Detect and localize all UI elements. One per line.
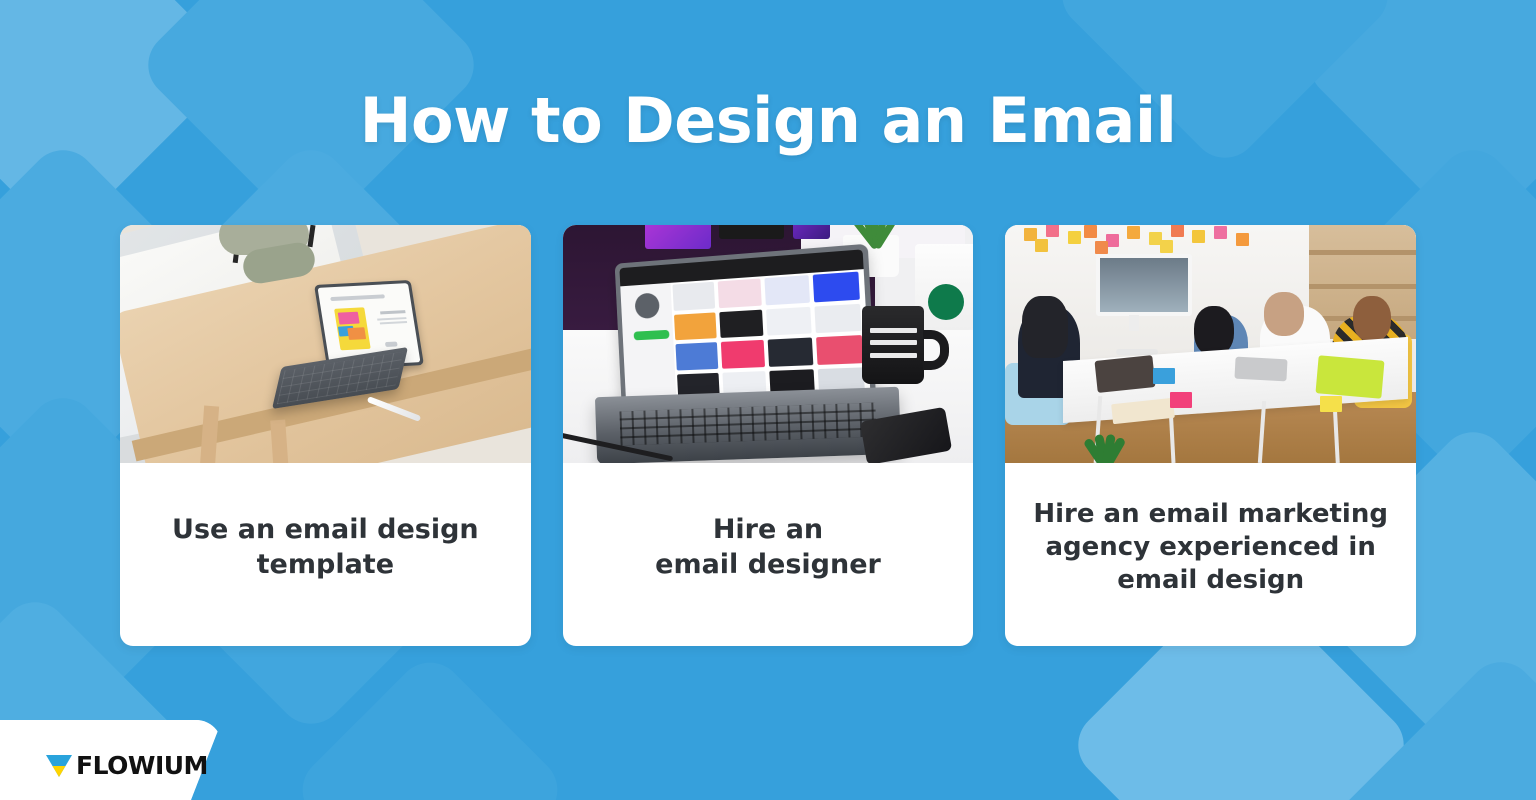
coffee-cup-icon (915, 244, 973, 330)
card-email-designer[interactable]: Hire an email designer (563, 225, 974, 646)
laptop-icon (1235, 357, 1288, 382)
card-caption: Hire an email marketing agency experienc… (1005, 463, 1416, 646)
infographic-root: How to Design an Email (0, 0, 1536, 800)
page-title: How to Design an Email (0, 88, 1536, 153)
card-caption: Use an email design template (120, 463, 531, 646)
laptop-icon (1094, 355, 1155, 393)
pattern-tile (289, 649, 572, 800)
flowium-wordmark: FLOWIUM (76, 753, 208, 778)
email-marketing-agency-photo (1005, 225, 1416, 463)
pattern-tile (1324, 648, 1536, 800)
email-design-template-photo (120, 225, 531, 463)
laptop-icon (1316, 355, 1385, 399)
card-email-marketing-agency[interactable]: Hire an email marketing agency experienc… (1005, 225, 1416, 646)
mug-icon (862, 306, 924, 384)
laptop-icon (615, 243, 876, 409)
card-email-design-template[interactable]: Use an email design template (120, 225, 531, 646)
flowium-triangle-icon (46, 755, 72, 777)
monitor-icon (1096, 254, 1192, 316)
plant-icon (1071, 428, 1131, 463)
card-row: Use an email design template (120, 225, 1416, 646)
email-designer-photo (563, 225, 974, 463)
card-caption: Hire an email designer (563, 463, 974, 646)
flowium-logo[interactable]: FLOWIUM (46, 753, 208, 778)
